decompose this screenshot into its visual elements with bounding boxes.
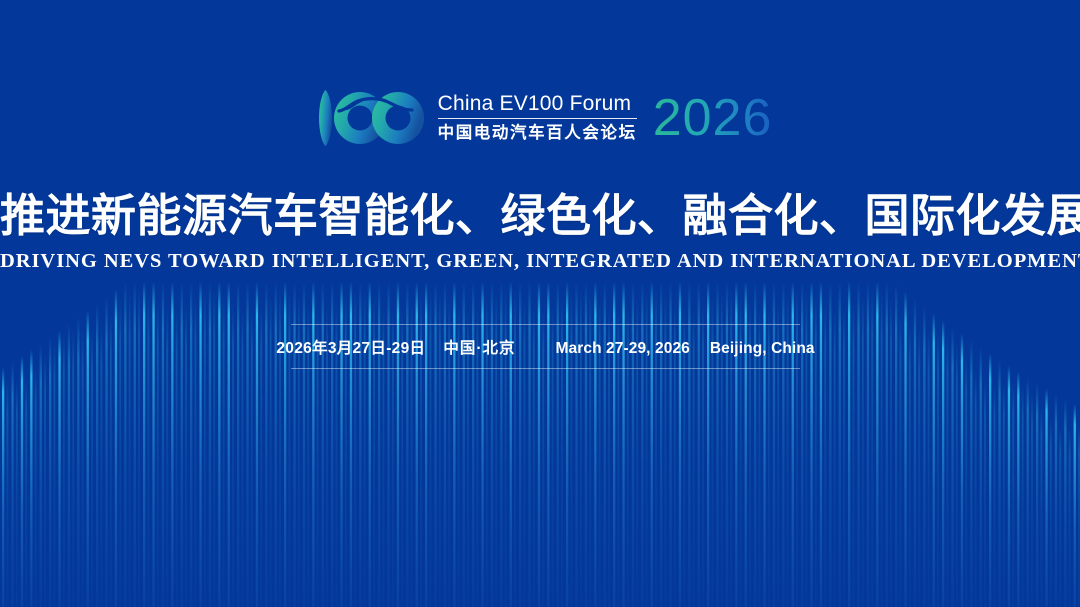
- headline-english: DRIVING NEVS TOWARD INTELLIGENT, GREEN, …: [0, 248, 1080, 274]
- date-chinese: 2026年3月27日-29日: [276, 336, 425, 358]
- logo-lockup: China EV100 Forum 中国电动汽车百人会论坛 2026: [0, 86, 1080, 150]
- logo-chinese-name: 中国电动汽车百人会论坛: [438, 122, 637, 144]
- china-ev100-logo-mark: [308, 88, 426, 148]
- date-english: March 27-29, 2026: [555, 340, 689, 358]
- event-poster: China EV100 Forum 中国电动汽车百人会论坛 2026 推进新能源…: [0, 0, 1080, 607]
- headline-chinese: 推进新能源汽车智能化、绿色化、融合化、国际化发展: [0, 190, 1080, 242]
- date-venue-strip: 2026年3月27日-29日 中国·北京 March 27-29, 2026 B…: [291, 324, 800, 369]
- headline-block: 推进新能源汽车智能化、绿色化、融合化、国际化发展 DRIVING NEVS TO…: [0, 190, 1080, 274]
- logo-english-name: China EV100 Forum: [438, 92, 637, 119]
- venue-english: Beijing, China: [710, 340, 815, 358]
- venue-chinese: 中国·北京: [443, 336, 515, 358]
- logo-year: 2026: [653, 92, 773, 144]
- logo-wordmark: China EV100 Forum 中国电动汽车百人会论坛: [438, 90, 637, 146]
- date-venue-inner: 2026年3月27日-29日 中国·北京 March 27-29, 2026 B…: [276, 336, 814, 358]
